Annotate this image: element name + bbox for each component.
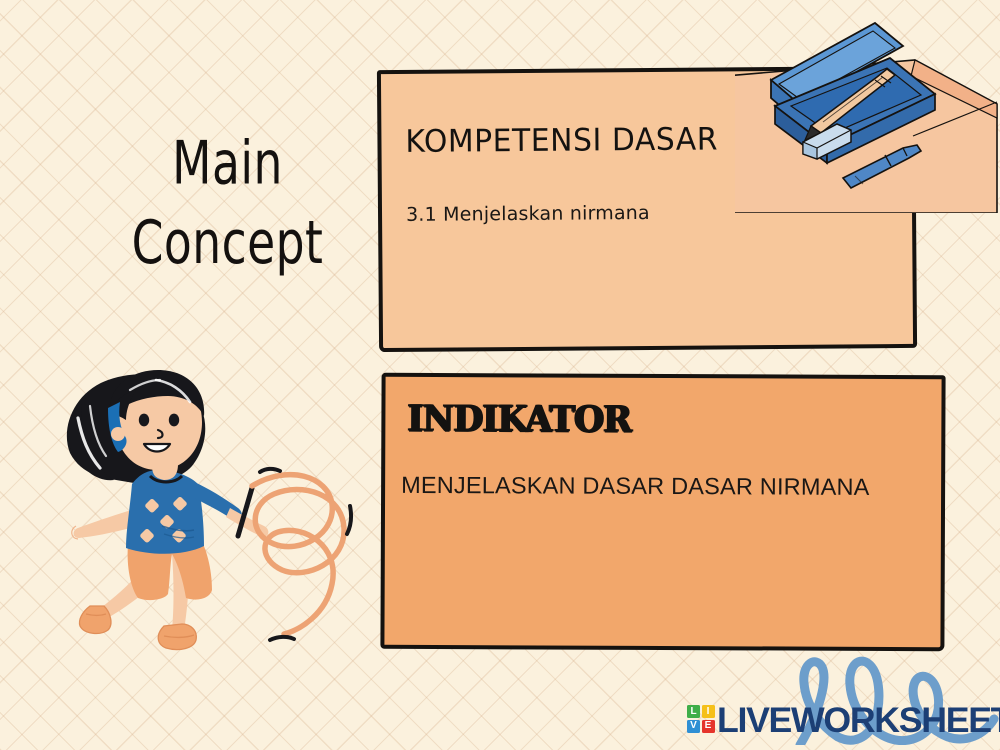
logo-tile-l: L: [687, 705, 700, 718]
indikator-subtext: MENJELASKAN DASAR DASAR NIRMANA: [401, 472, 870, 501]
kompetensi-dasar-subtext: 3.1 Menjelaskan nirmana: [406, 202, 650, 226]
indikator-heading: INDIKATOR: [407, 398, 631, 441]
liveworksheets-brand: L I V E LIVEWORKSHEETS: [684, 655, 1000, 750]
pencil-case-illustration: [735, 18, 1000, 213]
logo-tile-v: V: [687, 720, 700, 733]
indikator-box: INDIKATOR MENJELASKAN DASAR DASAR NIRMAN…: [380, 373, 945, 651]
kompetensi-dasar-heading: KOMPETENSI DASAR: [405, 121, 718, 159]
logo-tile-e: E: [702, 720, 715, 733]
girl-illustration: [52, 358, 357, 663]
page-title-line-1: Main: [172, 129, 283, 199]
page-title-line-2: Concept: [104, 204, 350, 283]
page-title: Main Concept: [104, 125, 350, 283]
liveworksheets-logo-tiles: L I V E: [687, 705, 715, 733]
logo-tile-i: I: [702, 705, 715, 718]
liveworksheets-wordmark: LIVEWORKSHEETS: [717, 701, 1000, 741]
